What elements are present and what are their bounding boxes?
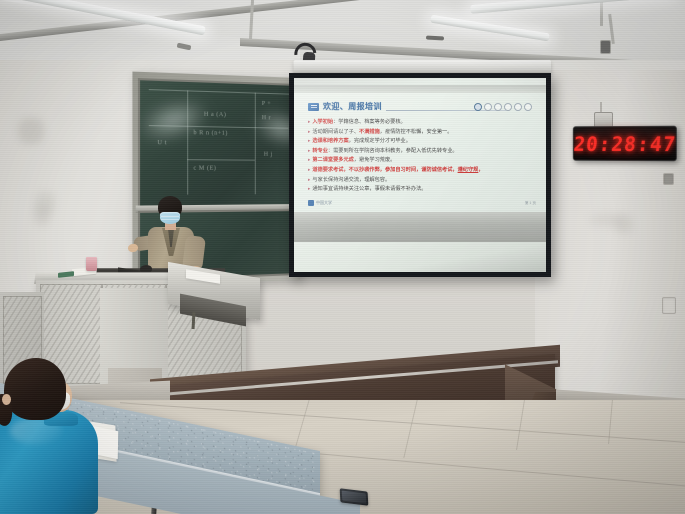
chalk-note: P + xyxy=(262,101,271,107)
slide-bottom-band xyxy=(294,212,546,242)
bullet-text: 道德要求考试，不以抄袭作弊，参加自习时间，谨防诚信考试，遵纪守规， xyxy=(312,167,483,174)
bullet-segment: ， xyxy=(478,167,483,173)
slide-footer-text: 第 1 页 xyxy=(525,201,536,206)
slide-bullet-7: ▸与家长保持沟通交流，理解包容。 xyxy=(308,177,538,184)
bullet-segment: 活动期间请以了子、 xyxy=(312,129,359,135)
chalk-note: H r xyxy=(262,115,271,121)
chalkboard-upper-panel: H a (A) b R n (n+1) P + H r U t H j c M … xyxy=(138,78,295,208)
slide-bullet-5: ▸第二课堂要多元成，避免学习荒废。 xyxy=(308,157,538,164)
wall-outlet[interactable] xyxy=(663,173,674,185)
bullet-segment: ，完成规定学分才可毕业。 xyxy=(349,138,411,144)
chalk-note: U t xyxy=(157,140,167,146)
slide-bullet-6: ▸道德要求考试，不以抄袭作弊，参加自习时间，谨防诚信考试，遵纪守规， xyxy=(308,167,538,174)
ceiling-pipe xyxy=(600,0,603,26)
clock-time-display: 20:28:47 xyxy=(573,131,677,155)
bullet-segment: 不满措施 xyxy=(359,129,380,135)
slide-bullet-4: ▸转专业：需要到所在学院咨询本科教务，参配入低优先转专业。 xyxy=(308,148,538,155)
fluorescent-tube-light xyxy=(470,0,675,14)
bullet-text: 活动期间请以了子、不满措施，疫情防控不松懈，安全第一。 xyxy=(312,129,452,136)
bullet-segment: 与家长保持沟通交流，理解包容。 xyxy=(312,177,390,183)
chalkboard-glare xyxy=(138,93,214,148)
student-ear xyxy=(2,394,11,405)
slide-icon-row xyxy=(474,103,532,111)
slide-logo-text: 中国大学 xyxy=(316,200,332,206)
bullet-segment: 转专业 xyxy=(312,148,328,154)
bullet-text: 第二课堂要多元成，避免学习荒废。 xyxy=(312,157,395,164)
circle-icon-1[interactable] xyxy=(474,103,482,111)
student-front-left xyxy=(0,358,106,514)
slide-title-icon xyxy=(308,103,319,111)
slide-bullet-2: ▸活动期间请以了子、不满措施，疫情防控不松懈，安全第一。 xyxy=(308,129,538,136)
led-wall-clock: 20:28:47 xyxy=(573,126,677,162)
bullet-text: 通知事宜请持续关注公章，事假未请假不补办法。 xyxy=(312,186,426,193)
circle-icon-5[interactable] xyxy=(514,103,522,111)
bullet-segment: ：需要到所在学院咨询本科教务，参配入低优先转专业。 xyxy=(328,148,458,154)
bullet-marker-icon: ▸ xyxy=(308,129,310,136)
student-hair xyxy=(4,358,66,420)
wall-mark xyxy=(590,214,622,226)
bullet-marker-icon: ▸ xyxy=(308,167,310,174)
bullet-segment: 道德要求考试，不以抄袭作弊，参加自习时间，谨防诚信考试， xyxy=(312,167,457,173)
projector-screen[interactable]: 欢迎、周报培训 ▸入学初始：学籍信息、档案等务必要核。▸活动期间请以了子、不满措… xyxy=(294,78,546,272)
bullet-segment: 遵纪守规 xyxy=(458,167,479,173)
bullet-marker-icon: ▸ xyxy=(308,148,310,155)
face-mask-icon xyxy=(160,212,180,224)
chalk-note: H a (A) xyxy=(204,112,226,119)
bullet-marker-icon: ▸ xyxy=(308,186,310,193)
bullet-segment: 通知事宜请持续关注公章，事假未请假不补办法。 xyxy=(312,186,426,192)
chalk-note: c M (E) xyxy=(193,165,216,171)
bullet-segment: ，避免学习荒废。 xyxy=(354,157,396,163)
circle-icon-4[interactable] xyxy=(504,103,512,111)
lecturer-left-hand xyxy=(127,243,138,253)
pink-cup xyxy=(86,257,97,271)
ceiling-sensor-icon xyxy=(426,36,444,41)
circle-icon-2[interactable] xyxy=(484,103,492,111)
bullet-marker-icon: ▸ xyxy=(308,138,310,145)
bullet-segment: ，疫情防控不松懈，安全第一。 xyxy=(380,129,453,135)
chalk-note: H j xyxy=(264,152,273,158)
bullet-text: 转专业：需要到所在学院咨询本科教务，参配入低优先转专业。 xyxy=(312,148,457,155)
chalk-note: b R n (n+1) xyxy=(193,130,227,137)
slide-title-row: 欢迎、周报培训 xyxy=(308,101,536,114)
classroom-photo-scene: H a (A) b R n (n+1) P + H r U t H j c M … xyxy=(0,0,685,514)
circle-icon-6[interactable] xyxy=(524,103,532,111)
slide-top-band xyxy=(294,85,546,93)
slide-logo: 中国大学 xyxy=(308,200,332,206)
circle-icon-3[interactable] xyxy=(494,103,502,111)
bullet-segment: 第二课堂要多元成 xyxy=(312,157,354,163)
bullet-text: 入学初始：学籍信息、档案等务必要核。 xyxy=(312,119,405,126)
bullet-text: 选课和培养方案，完成规定学分才可毕业。 xyxy=(312,138,411,145)
bullet-segment: 选课和培养方案 xyxy=(312,138,348,144)
bullet-segment: ：学籍信息、档案等务必要核。 xyxy=(333,119,406,125)
bullet-marker-icon: ▸ xyxy=(308,177,310,184)
slide-bullet-3: ▸选课和培养方案，完成规定学分才可毕业。 xyxy=(308,138,538,145)
wall-mark xyxy=(34,205,50,225)
presentation-slide: 欢迎、周报培训 ▸入学初始：学籍信息、档案等务必要核。▸活动期间请以了子、不满措… xyxy=(294,85,546,242)
slide-bullet-list: ▸入学初始：学籍信息、档案等务必要核。▸活动期间请以了子、不满措施，疫情防控不松… xyxy=(308,119,538,196)
wall-outlet[interactable] xyxy=(662,297,676,314)
slide-bullet-1: ▸入学初始：学籍信息、档案等务必要核。 xyxy=(308,119,538,126)
bullet-marker-icon: ▸ xyxy=(308,119,310,126)
slide-bullet-8: ▸通知事宜请持续关注公章，事假未请假不补办法。 xyxy=(308,186,538,193)
ceiling-pipe xyxy=(249,0,254,40)
ceiling-fixture xyxy=(600,40,611,54)
bullet-segment: 入学初始 xyxy=(312,119,333,125)
bullet-marker-icon: ▸ xyxy=(308,157,310,164)
wall-mark xyxy=(18,118,44,144)
fluorescent-tube-light xyxy=(430,15,550,42)
logo-mark-icon xyxy=(308,200,314,206)
bullet-text: 与家长保持沟通交流，理解包容。 xyxy=(312,177,390,184)
slide-title: 欢迎、周报培训 xyxy=(323,101,382,112)
